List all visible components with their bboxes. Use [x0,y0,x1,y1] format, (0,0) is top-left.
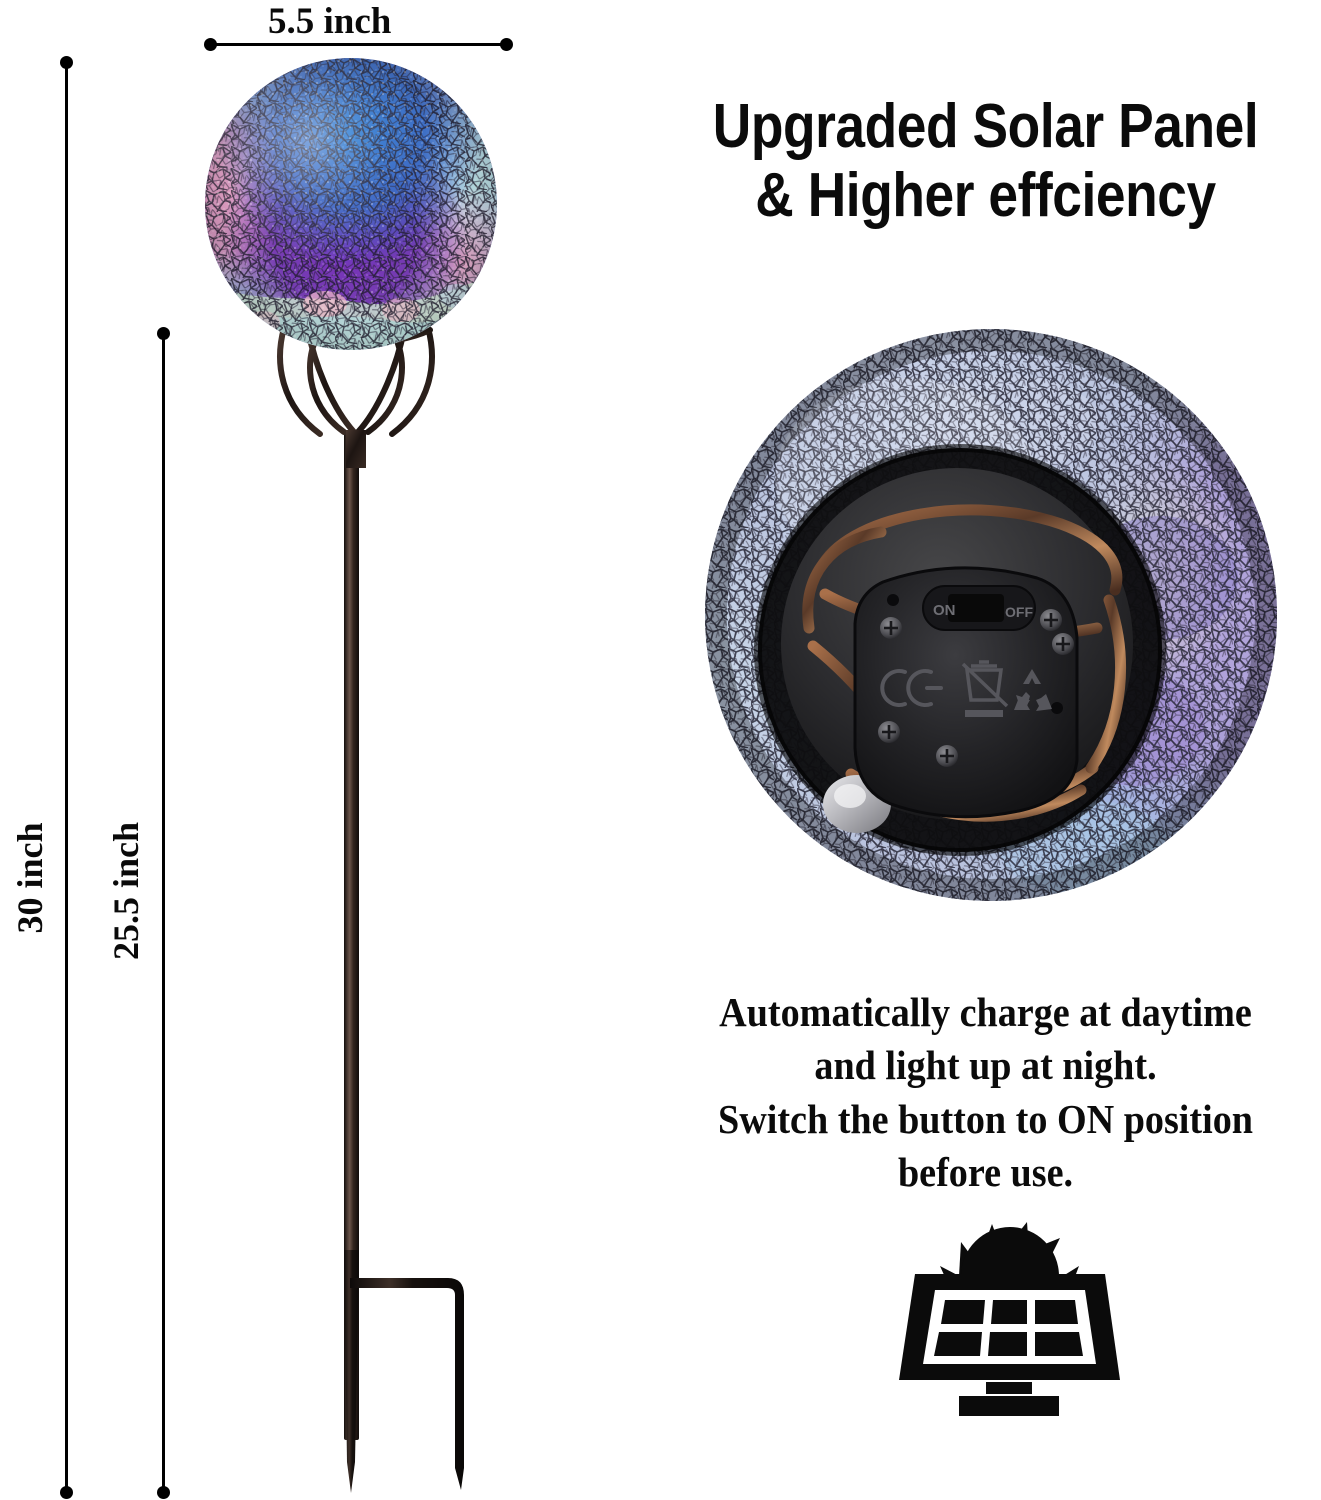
instruction-text: Automatically charge at daytime and ligh… [673,986,1297,1199]
bottom-view-graphic: ON OFF [705,328,1277,902]
battery-cover-plate: ON OFF [855,568,1077,817]
mosaic-tile-texture [205,58,497,350]
solar-panel-icon [893,1212,1125,1434]
power-switch: ON OFF [923,586,1035,630]
svg-text:OFF: OFF [1005,604,1033,620]
headline: Upgraded Solar Panel & Higher effciency [697,92,1274,231]
headline-line-1: Upgraded Solar Panel [697,92,1274,161]
solar-panel-bottom-view-photo: ON OFF [705,328,1277,902]
svg-text:ON: ON [933,602,956,619]
infographic-canvas: 5.5 inch 30 inch 25.5 inch [0,0,1321,1500]
solar-globe-stake-product [0,0,560,1500]
instruction-line-4: before use. [673,1146,1297,1199]
instruction-line-1: Automatically charge at daytime [673,986,1297,1039]
instruction-line-3: Switch the button to ON position [673,1093,1297,1146]
stake-prongs [300,1250,530,1500]
mosaic-glass-globe [205,58,497,350]
headline-line-2: & Higher effciency [697,161,1274,230]
instruction-line-2: and light up at night. [673,1039,1297,1092]
